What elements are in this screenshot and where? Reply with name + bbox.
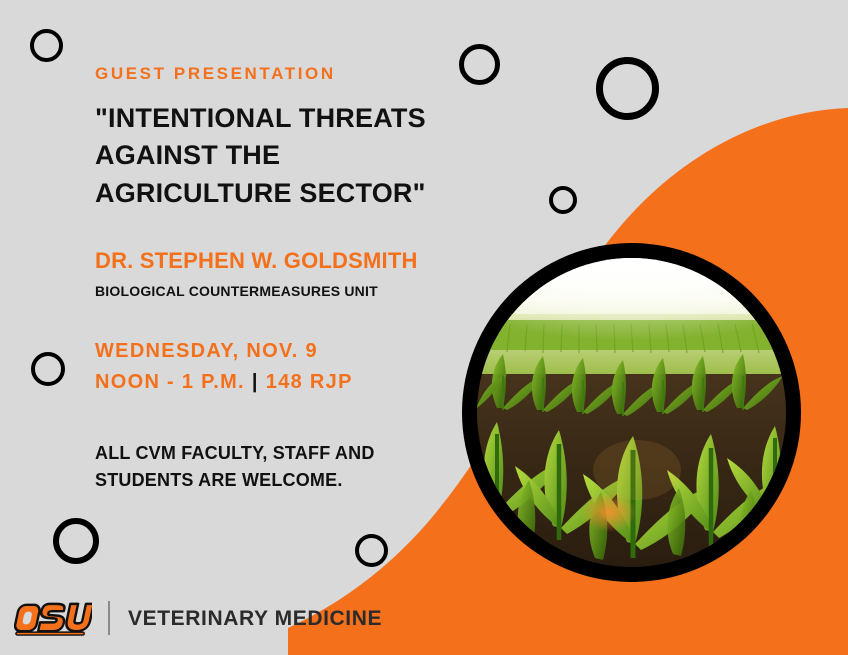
flyer-canvas: GUEST PRESENTATION "INTENTIONAL THREATS … <box>0 0 848 655</box>
time-location-separator: | <box>245 371 266 393</box>
brand-lockup: VETERINARY MEDICINE <box>14 595 382 641</box>
brand-wordmark: VETERINARY MEDICINE <box>128 608 382 629</box>
event-date: WEDNESDAY, NOV. 9 <box>95 341 318 361</box>
audience-note: ALL CVM FACULTY, STAFF AND STUDENTS ARE … <box>95 440 455 494</box>
speaker-affiliation: BIOLOGICAL COUNTERMEASURES UNIT <box>95 284 378 298</box>
speaker-name: DR. STEPHEN W. GOLDSMITH <box>95 250 418 272</box>
event-location: 148 RJP <box>266 371 353 393</box>
ring-top-right <box>596 57 659 120</box>
osu-brand-logo <box>14 598 92 638</box>
ring-mid-center <box>549 186 577 214</box>
ring-bottom-left <box>53 518 99 564</box>
eyebrow-label: GUEST PRESENTATION <box>95 65 336 82</box>
event-time-location: NOON - 1 P.M.|148 RJP <box>95 372 353 392</box>
brand-divider <box>108 601 110 635</box>
page-title: "INTENTIONAL THREATS AGAINST THE AGRICUL… <box>95 100 470 212</box>
event-time: NOON - 1 P.M. <box>95 371 245 393</box>
text-column: GUEST PRESENTATION "INTENTIONAL THREATS … <box>95 0 515 655</box>
ring-top-left <box>30 29 63 62</box>
corn-field-photo-inner <box>477 258 786 567</box>
ring-mid-left <box>31 352 65 386</box>
